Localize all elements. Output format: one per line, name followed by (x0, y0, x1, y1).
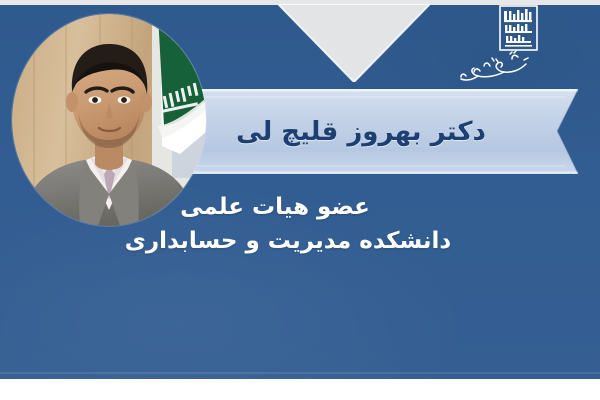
panel-bottom-divider (0, 372, 600, 374)
subtitle-faculty: دانشکده مدیریت و حسابداری (0, 224, 600, 258)
name-ribbon: دکتر بهروز قلیچ لی (185, 89, 578, 174)
person-name: دکتر بهروز قلیچ لی (185, 89, 555, 174)
portrait-photo (12, 14, 206, 226)
bottom-white-margin (0, 379, 600, 400)
university-logo (440, 2, 540, 90)
university-logo-caption (454, 40, 534, 88)
banner-canvas: دکتر بهروز قلیچ لی (0, 0, 600, 400)
chevron-down-icon (278, 4, 430, 82)
